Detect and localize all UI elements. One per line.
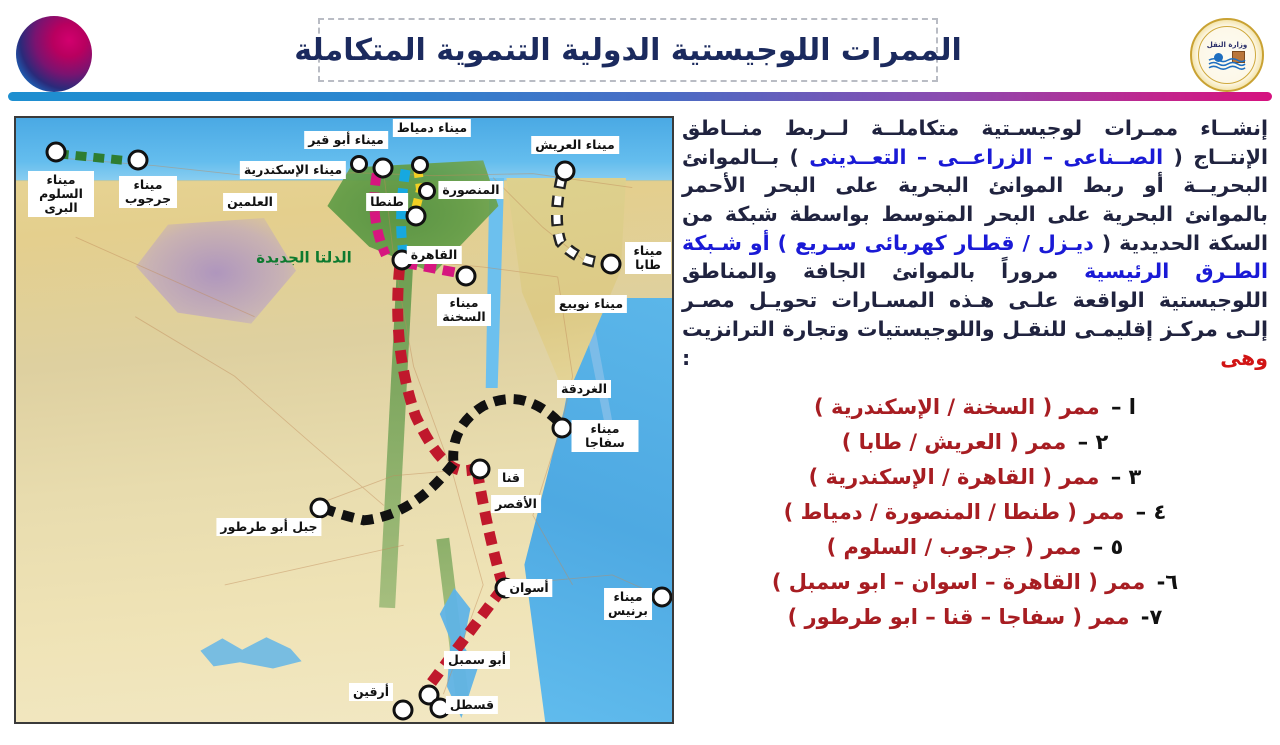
corridor-salloum-gargoub	[58, 154, 138, 162]
map-label-arqin: أرقين	[349, 683, 393, 701]
corridor-index-2: ٢ –	[1078, 430, 1109, 454]
title-frame: الممرات اللوجيستية الدولية التنموية المت…	[318, 18, 938, 82]
corridor-item-1: ا – ممر ( السخنة / الإسكندرية )	[682, 390, 1268, 425]
corridor-cairo-alexandria-magenta	[374, 174, 385, 255]
map-label-alexandria: ميناء الإسكندرية	[240, 161, 346, 179]
map-label-salloum: ميناء السلوم البرى	[28, 171, 94, 217]
para-rail-highlight: ديـزل / قطـار كهربائى سـريع	[795, 231, 1094, 255]
map-node-arqin[interactable]	[393, 700, 414, 721]
corridor-index-7: ٧-	[1141, 605, 1163, 629]
map-label-abuqir: ميناء أبو قير	[304, 131, 388, 149]
map-label-mansoura: المنصورة	[438, 181, 503, 199]
gradient-sphere-logo	[16, 16, 92, 92]
corridor-label-7: ممر ( سفاجا – قنا – ابو طرطور )	[788, 605, 1130, 629]
para-line-8-prefix: واللوجيستيات وتجارة الترانزيت	[682, 317, 995, 341]
map-label-abutartour: جبل أبو طرطور	[216, 518, 321, 536]
map-label-new-delta: الدلتا الجديدة	[252, 248, 355, 269]
map-label-qena: قنا	[498, 469, 524, 487]
map-label-luxor: الأقصر	[491, 495, 541, 513]
map-node-safaga[interactable]	[552, 418, 573, 439]
corridor-label-3: ممر ( القاهرة / الإسكندرية )	[809, 465, 1100, 489]
map-label-aswan: أسوان	[505, 579, 552, 597]
map-node-gargoub[interactable]	[128, 150, 149, 171]
corridor-index-1: ا –	[1111, 395, 1136, 419]
corridor-label-1: ممر ( السخنة / الإسكندرية )	[814, 395, 1100, 419]
page-title: الممرات اللوجيستية الدولية التنموية المت…	[294, 33, 962, 68]
corridor-item-2: ٢ – ممر ( العريش / طابا )	[682, 425, 1268, 460]
slide-root: الممرات اللوجيستية الدولية التنموية المت…	[0, 0, 1280, 745]
corridor-cairo-aswan-abusimbel	[398, 267, 502, 689]
map-label-hurghada: الغردقة	[557, 380, 611, 398]
logo-wave-icon	[1208, 56, 1246, 70]
corridor-item-4: ٤ – ممر ( طنطا / المنصورة / دمياط )	[682, 495, 1268, 530]
map-label-abusimbel: أبو سمبل	[444, 651, 510, 669]
corridor-index-5: ٥ –	[1093, 535, 1124, 559]
map-node-qena[interactable]	[470, 459, 491, 480]
corridor-item-6: ٦- ممر ( القاهرة – اسوان – ابو سمبل )	[682, 565, 1268, 600]
map-node-abuqir[interactable]	[350, 155, 368, 173]
map-label-safaga: ميناء سفاجا	[572, 420, 639, 452]
map-label-gargoub: ميناء جرجوب	[119, 176, 177, 208]
intro-paragraph: إنشــاء ممـرات لوجيسـتية متكاملــة لــرب…	[682, 114, 1268, 372]
para-line-2-prefix: (	[1163, 145, 1183, 169]
description-panel: إنشــاء ممـرات لوجيسـتية متكاملــة لــرب…	[678, 114, 1274, 734]
corridor-index-6: ٦-	[1157, 570, 1179, 594]
map-node-alexandria[interactable]	[373, 158, 394, 179]
map-node-mansoura[interactable]	[418, 182, 436, 200]
header-gradient-bar	[8, 92, 1272, 101]
para-line-8-suffix: :	[682, 346, 1220, 370]
corridor-arish-taba	[557, 178, 605, 263]
map-label-sokhna: ميناء السخنة	[437, 294, 491, 326]
map-label-cairo: القاهرة	[407, 246, 462, 264]
corridor-label-6: ممر ( القاهرة – اسوان – ابو سمبل )	[772, 570, 1145, 594]
map-node-tanta[interactable]	[406, 206, 427, 227]
map-label-tanta: طنطا	[366, 193, 408, 211]
corridor-label-2: ممر ( العريش / طابا )	[842, 430, 1067, 454]
slide-header: الممرات اللوجيستية الدولية التنموية المت…	[0, 0, 1280, 110]
map-node-salloum[interactable]	[46, 142, 67, 163]
corridor-item-7: ٧- ممر ( سفاجا – قنا – ابو طرطور )	[682, 600, 1268, 635]
map-label-nuweiba: ميناء نويبع	[555, 295, 627, 313]
map-node-berenice[interactable]	[652, 587, 673, 608]
egypt-logistics-map: ميناء السلوم البرى ميناء جرجوب العلمين م…	[14, 116, 674, 724]
corridor-index-3: ٣ –	[1111, 465, 1142, 489]
map-label-damietta: ميناء دمياط	[393, 119, 471, 137]
map-node-abutartour[interactable]	[310, 498, 331, 519]
logo-ring	[1198, 26, 1256, 84]
corridor-item-5: ٥ – ممر ( جرجوب / السلوم )	[682, 530, 1268, 565]
map-label-berenice: ميناء برنيس	[604, 588, 652, 620]
map-label-arish: ميناء العريش	[531, 136, 619, 154]
map-label-taba: ميناء طابا	[625, 242, 671, 274]
map-node-sokhna[interactable]	[456, 266, 477, 287]
map-label-alamein: العلمين	[223, 193, 277, 211]
corridor-list: ا – ممر ( السخنة / الإسكندرية ) ٢ – ممر …	[682, 390, 1268, 635]
corridor-label-5: ممر ( جرجوب / السلوم )	[827, 535, 1082, 559]
corridor-label-4: ممر ( طنطا / المنصورة / دمياط )	[784, 500, 1125, 524]
map-node-arish[interactable]	[555, 161, 576, 182]
map-node-damietta[interactable]	[411, 156, 429, 174]
map-node-taba[interactable]	[601, 254, 622, 275]
corridor-index-4: ٤ –	[1136, 500, 1167, 524]
para-sectors-highlight: الصــناعى – الزراعــى – التعــدينى	[809, 145, 1163, 169]
para-wahya-highlight: وهى	[1220, 346, 1268, 370]
ministry-logo-label: وزارة النقل	[1192, 41, 1262, 49]
ministry-logo: وزارة النقل	[1190, 18, 1264, 92]
corridor-item-3: ٣ – ممر ( القاهرة / الإسكندرية )	[682, 460, 1268, 495]
map-label-qustul: قسطل	[446, 696, 498, 714]
